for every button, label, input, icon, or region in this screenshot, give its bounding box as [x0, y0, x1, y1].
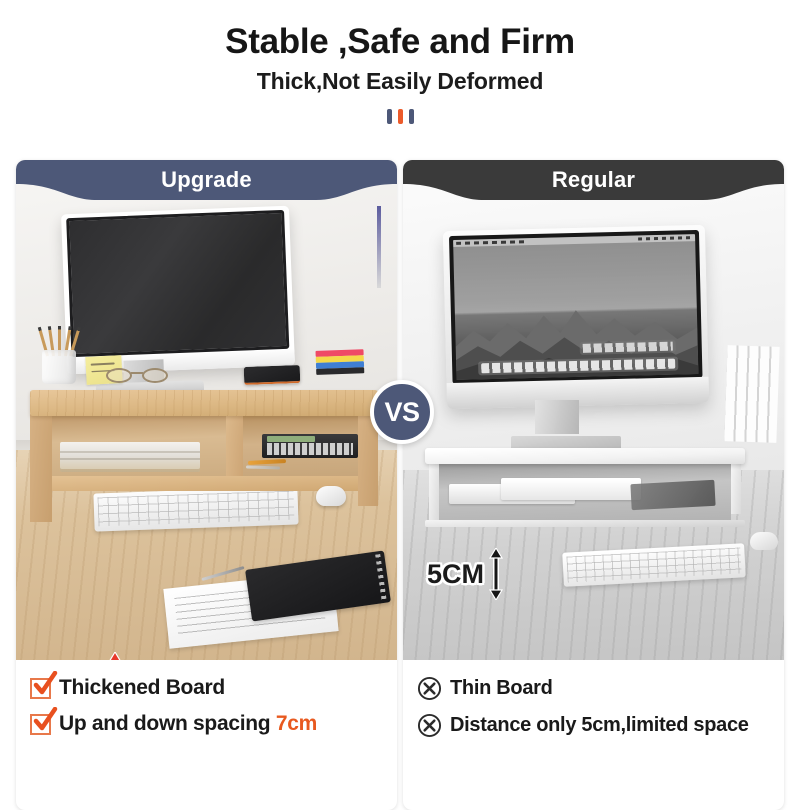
stand-top-board — [425, 448, 745, 464]
glasses-lens-right — [142, 368, 168, 383]
stand-base — [425, 520, 745, 527]
panel-upgrade: 7CM — [16, 160, 397, 810]
dock-secondary-icons — [580, 340, 676, 355]
x-circle-glyph — [417, 713, 442, 738]
monitor-screen-wallpaper — [453, 234, 698, 380]
checkmark-glyph — [32, 671, 58, 697]
bullet-label: Thin Board — [450, 677, 553, 700]
menu-bar — [453, 234, 695, 247]
page-subtitle: Thick,Not Easily Deformed — [0, 68, 800, 95]
bullet-spacing: Up and down spacing 7cm — [30, 712, 397, 736]
banner-upgrade: Upgrade — [16, 160, 397, 206]
pen-holder-cup — [42, 350, 76, 384]
banner-label-upgrade: Upgrade — [16, 160, 397, 200]
white-monitor-stand — [425, 448, 745, 544]
monitor-regular — [443, 225, 709, 409]
measurement-5cm-label: 5CM — [427, 561, 484, 588]
mouse-regular — [750, 532, 778, 550]
handwriting-lines — [91, 362, 115, 365]
product-photo-regular: 5CM Regular — [403, 160, 784, 660]
clutter-items — [630, 480, 715, 510]
bullet-label: Thickened Board — [59, 676, 225, 700]
banner-label-regular: Regular — [403, 160, 784, 200]
monitor-upgrade — [61, 206, 295, 375]
sticky-note-pads — [315, 349, 366, 381]
panel-regular: 5CM Regular — [403, 160, 784, 810]
bullet-label-group: Up and down spacing 7cm — [59, 712, 317, 736]
riser-top-board — [30, 390, 378, 416]
double-arrow-icon — [488, 548, 504, 600]
calculator-display — [267, 436, 315, 442]
x-circle-icon — [417, 676, 442, 701]
x-circle-icon — [417, 713, 442, 738]
bullet-label: Distance only 5cm,limited space — [450, 714, 749, 737]
checkmark-glyph — [32, 707, 58, 733]
mouse-upgrade — [316, 486, 346, 506]
bullet-thickened-board: Thickened Board — [30, 676, 397, 700]
riser-middle-divider — [226, 414, 243, 476]
divider-bar-right — [409, 109, 414, 124]
glasses-lens-left — [106, 368, 132, 383]
book-under-stand-2 — [501, 478, 641, 500]
background-stick — [377, 206, 381, 288]
check-icon — [30, 678, 51, 699]
banner-regular: Regular — [403, 160, 784, 206]
stand-right-leg — [731, 462, 741, 514]
divider-bar-center — [398, 109, 403, 124]
books-stack-right — [724, 345, 779, 443]
three-bar-divider — [0, 109, 800, 124]
product-photo-upgrade: 7CM — [16, 160, 397, 660]
eyeglasses-icon — [106, 368, 168, 384]
bullet-highlight: 7cm — [276, 712, 317, 735]
sticky-pad-base — [316, 367, 364, 375]
bullet-distance: Distance only 5cm,limited space — [417, 713, 784, 738]
comparison-container: 7CM — [16, 160, 784, 810]
calculator-icon — [262, 434, 358, 458]
scene-upgrade: 7CM — [16, 160, 397, 660]
bullet-thin-board: Thin Board — [417, 676, 784, 701]
bullets-upgrade: Thickened Board Up and down spacing 7cm — [16, 662, 397, 748]
monitor-screen-dark — [66, 210, 289, 357]
books-on-shelf — [60, 442, 200, 472]
smartphone-icon — [244, 365, 301, 385]
divider-bar-left — [387, 109, 392, 124]
stand-left-leg — [429, 462, 439, 522]
riser-lower-shelf — [50, 476, 360, 491]
bullet-label: Up and down spacing — [59, 712, 276, 735]
header: Stable ,Safe and Firm Thick,Not Easily D… — [0, 0, 800, 124]
measurement-7cm: 7CM — [46, 652, 123, 660]
bullets-regular: Thin Board Distance only 5cm,limited spa… — [403, 662, 784, 750]
check-icon — [30, 714, 51, 735]
vs-badge: VS — [370, 380, 434, 444]
riser-left-leg — [30, 414, 52, 522]
measurement-5cm: 5CM — [427, 548, 504, 600]
page-title: Stable ,Safe and Firm — [0, 22, 800, 61]
monitor-bezel — [449, 230, 703, 384]
pen-holder-icon — [42, 332, 76, 384]
monitor-neck — [535, 400, 579, 434]
x-circle-glyph — [417, 676, 442, 701]
double-arrow-icon — [107, 652, 123, 660]
